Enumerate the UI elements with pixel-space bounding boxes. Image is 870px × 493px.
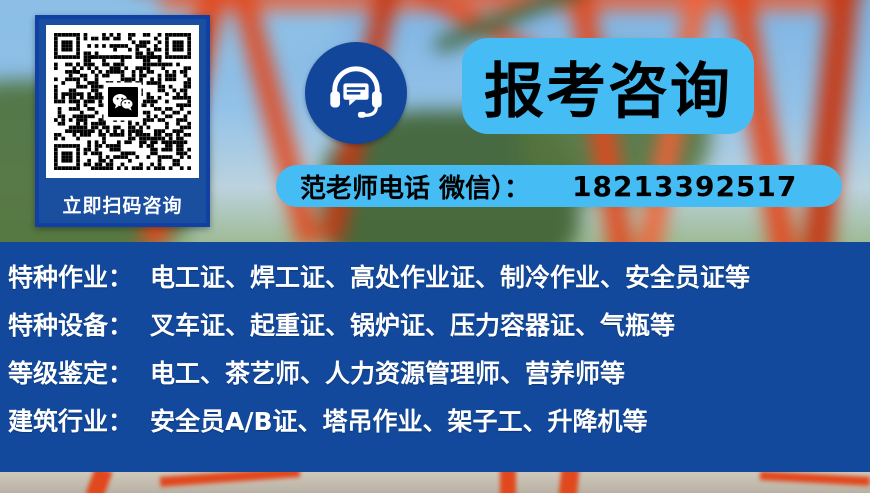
contact-phone-number[interactable]: 18213392517 [572, 170, 797, 203]
category-list-panel: 特种作业： 电工证、焊工证、高处作业证、制冷作业、安全员证等 特种设备： 叉车证… [0, 242, 870, 472]
category-row-construction-industry: 建筑行业： 安全员A/B证、塔吊作业、架子工、升降机等 [0, 402, 870, 450]
page-title: 报考咨询 [484, 43, 732, 130]
category-row-grade-assessment: 等级鉴定： 电工、茶艺师、人力资源管理师、营养师等 [0, 354, 870, 402]
contact-pill[interactable]: 范老师电话 微信）： 18213392517 [276, 165, 842, 207]
category-label: 建筑行业： [8, 402, 150, 438]
qr-card[interactable]: 立即扫码咨询 [35, 15, 210, 227]
contact-label: 范老师电话 微信）： [300, 168, 530, 205]
category-label: 特种作业： [8, 258, 150, 294]
category-value: 电工证、焊工证、高处作业证、制冷作业、安全员证等 [150, 258, 750, 294]
category-row-special-equipment: 特种设备： 叉车证、起重证、锅炉证、压力容器证、气瓶等 [0, 306, 870, 354]
category-row-special-operations: 特种作业： 电工证、焊工证、高处作业证、制冷作业、安全员证等 [0, 258, 870, 306]
category-label: 特种设备： [8, 306, 150, 342]
wechat-icon [106, 85, 140, 119]
category-label: 等级鉴定： [8, 354, 150, 390]
category-value: 电工、茶艺师、人力资源管理师、营养师等 [150, 354, 625, 390]
qr-code-icon[interactable] [54, 33, 191, 170]
category-value: 安全员A/B证、塔吊作业、架子工、升降机等 [150, 402, 648, 438]
qr-code-frame [46, 25, 199, 178]
qr-caption: 立即扫码咨询 [39, 191, 206, 218]
category-value: 叉车证、起重证、锅炉证、压力容器证、气瓶等 [150, 306, 675, 342]
title-pill: 报考咨询 [462, 38, 754, 134]
promo-banner: 立即扫码咨询 报考咨询 范老师电话 微信）： 18213392517 特种作业：… [0, 0, 870, 493]
bottom-photo-strip [0, 472, 870, 493]
headset-support-icon [305, 42, 407, 144]
